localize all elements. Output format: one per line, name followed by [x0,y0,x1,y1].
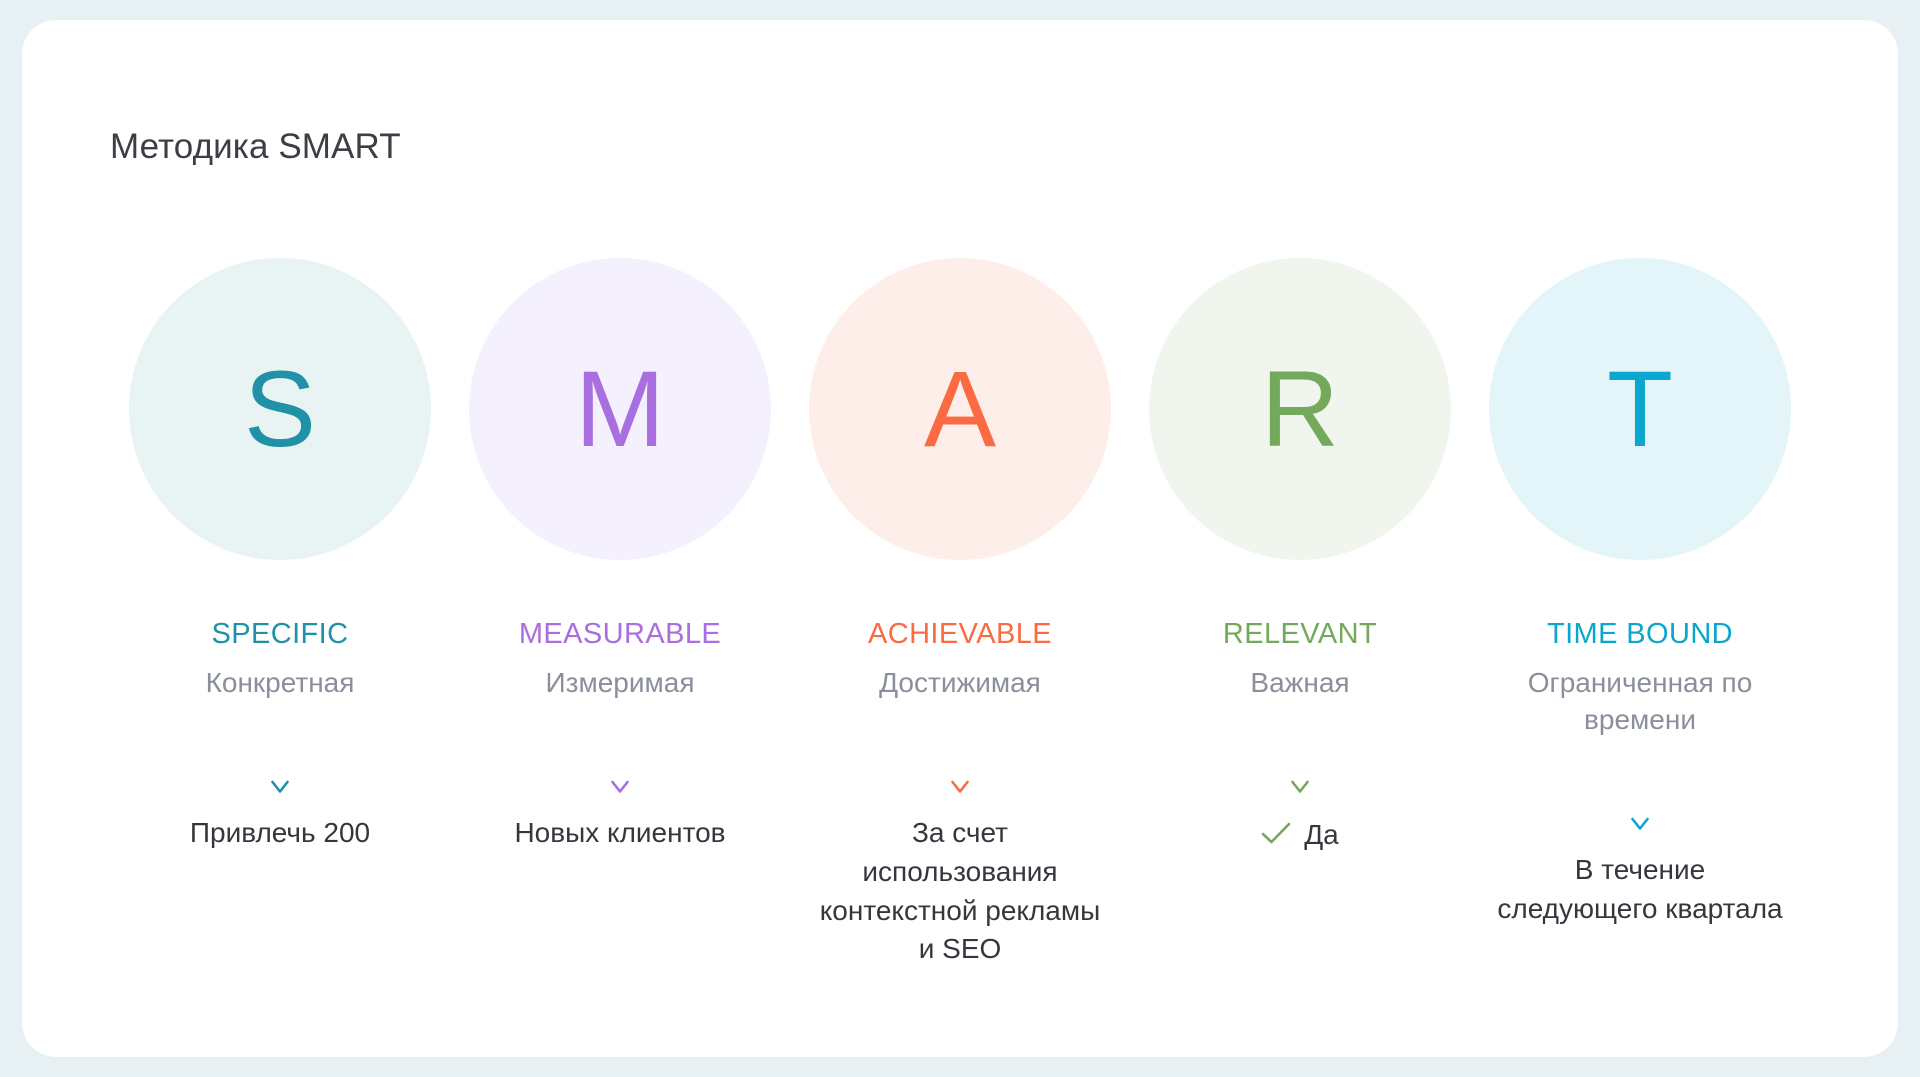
circle-letter: R [1261,355,1339,463]
result-text-wrap: Привлечь 200 [190,814,370,853]
down-arrow-icon [269,738,291,796]
down-arrow-icon [949,738,971,796]
circle-letter: M [575,355,665,463]
letter-circle-r: R [1149,258,1451,560]
term-label: RELEVANT [1223,618,1377,651]
down-arrow-icon [1289,738,1311,796]
smart-card: Методика SMART SSPECIFICКонкретнаяПривле… [22,20,1898,1057]
check-icon [1261,817,1291,856]
letter-circle-a: A [809,258,1111,560]
smart-columns: SSPECIFICКонкретнаяПривлечь 200MMEASURAB… [110,258,1810,969]
result-text: Привлечь 200 [190,817,370,848]
down-arrow-icon [1629,775,1651,833]
letter-circle-t: T [1489,258,1791,560]
term-label: MEASURABLE [519,618,721,651]
result-text: В течение следующего квартала [1497,854,1782,924]
term-label: TIME BOUND [1547,618,1733,651]
term-label: SPECIFIC [212,618,349,651]
result-text: Да [1304,816,1339,855]
translation-label: Конкретная [206,665,355,702]
result-text-wrap: В течение следующего квартала [1495,851,1785,928]
result-text: За счет использования контекстной реклам… [820,817,1101,964]
circle-letter: S [244,355,316,463]
result-text-wrap: Новых клиентов [514,814,725,853]
translation-label: Достижимая [879,665,1041,702]
letter-circle-s: S [129,258,431,560]
result-text: Новых клиентов [514,817,725,848]
smart-column-a: AACHIEVABLEДостижимаяЗа счет использован… [790,258,1130,969]
term-label: ACHIEVABLE [868,618,1052,651]
translation-label: Измеримая [546,665,695,702]
down-arrow-icon [609,738,631,796]
smart-column-t: TTIME BOUNDОграниченная по времениВ тече… [1470,258,1810,929]
result-text-wrap: За счет использования контекстной реклам… [815,814,1105,969]
translation-label: Важная [1250,665,1349,702]
smart-column-r: RRELEVANTВажнаяДа [1130,258,1470,856]
result-text-wrap: Да [1261,814,1339,856]
smart-column-s: SSPECIFICКонкретнаяПривлечь 200 [110,258,450,853]
circle-letter: A [924,355,996,463]
translation-label: Ограниченная по времени [1495,665,1785,739]
letter-circle-m: M [469,258,771,560]
smart-column-m: MMEASURABLEИзмеримаяНовых клиентов [450,258,790,853]
circle-letter: T [1607,355,1673,463]
page-title: Методика SMART [110,127,401,167]
